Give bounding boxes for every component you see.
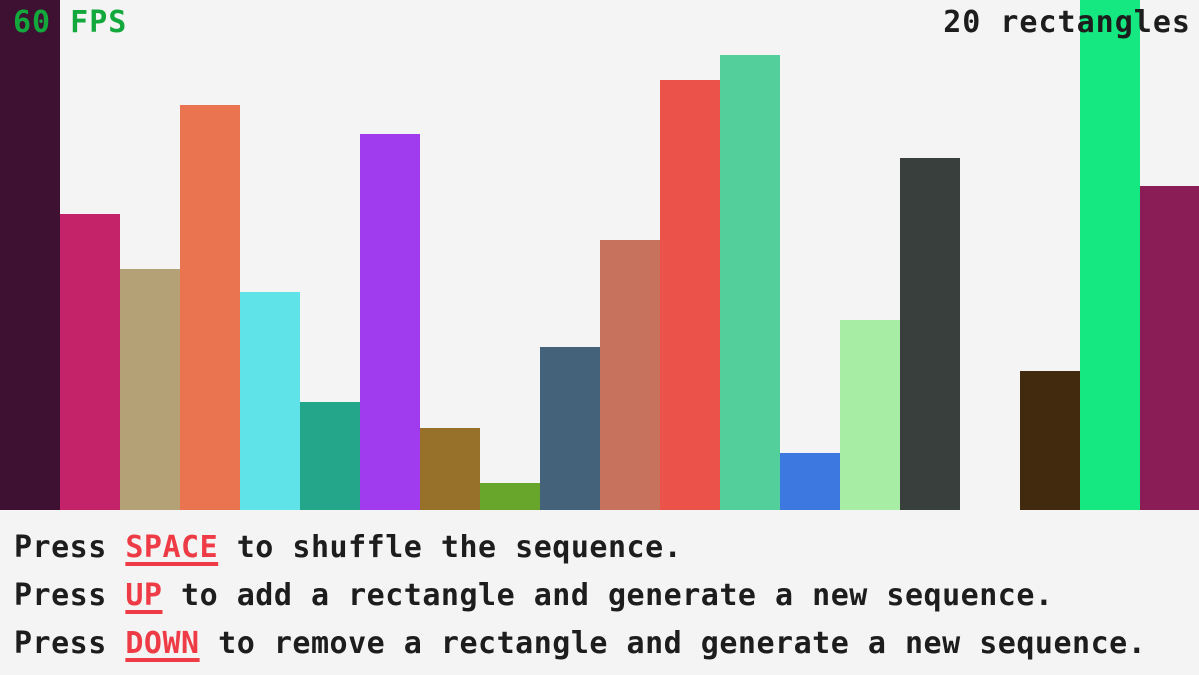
bar-4 <box>180 105 240 510</box>
instruction-line-3: Press DOWN to remove a rectangle and gen… <box>14 620 1199 668</box>
key-space[interactable]: SPACE <box>125 530 218 565</box>
bar-16 <box>900 158 960 510</box>
instruction-line-1: Press SPACE to shuffle the sequence. <box>14 524 1199 572</box>
bar-19 <box>1080 0 1140 510</box>
bar-13 <box>720 55 780 510</box>
bar-5 <box>240 292 300 510</box>
instruction-line-2: Press UP to add a rectangle and generate… <box>14 572 1199 620</box>
fps-counter: 60 FPS <box>13 8 127 38</box>
bar-7 <box>360 134 420 510</box>
bar-11 <box>600 240 660 510</box>
bar-8 <box>420 428 480 510</box>
instruction-prefix: Press <box>14 578 125 613</box>
bar-20 <box>1140 186 1199 510</box>
bar-10 <box>540 347 600 510</box>
instruction-prefix: Press <box>14 626 125 661</box>
instruction-suffix: to remove a rectangle and generate a new… <box>200 626 1147 661</box>
bar-18 <box>1020 371 1080 510</box>
bar-15 <box>840 320 900 510</box>
bar-chart-canvas[interactable] <box>0 0 1199 510</box>
rectangle-sequence-app: 60 FPS 20 rectangles Press SPACE to shuf… <box>0 0 1199 675</box>
rectangle-count-label: 20 rectangles <box>943 8 1191 38</box>
key-down[interactable]: DOWN <box>125 626 199 661</box>
instruction-suffix: to add a rectangle and generate a new se… <box>163 578 1054 613</box>
instruction-prefix: Press <box>14 530 125 565</box>
bar-3 <box>120 269 180 510</box>
bar-2 <box>60 214 120 510</box>
bar-9 <box>480 483 540 510</box>
bar-12 <box>660 80 720 510</box>
instruction-suffix: to shuffle the sequence. <box>218 530 682 565</box>
bar-6 <box>300 402 360 510</box>
key-up[interactable]: UP <box>125 578 162 613</box>
bar-14 <box>780 453 840 510</box>
instructions-panel: Press SPACE to shuffle the sequence.Pres… <box>0 510 1199 675</box>
bar-1 <box>0 0 60 510</box>
